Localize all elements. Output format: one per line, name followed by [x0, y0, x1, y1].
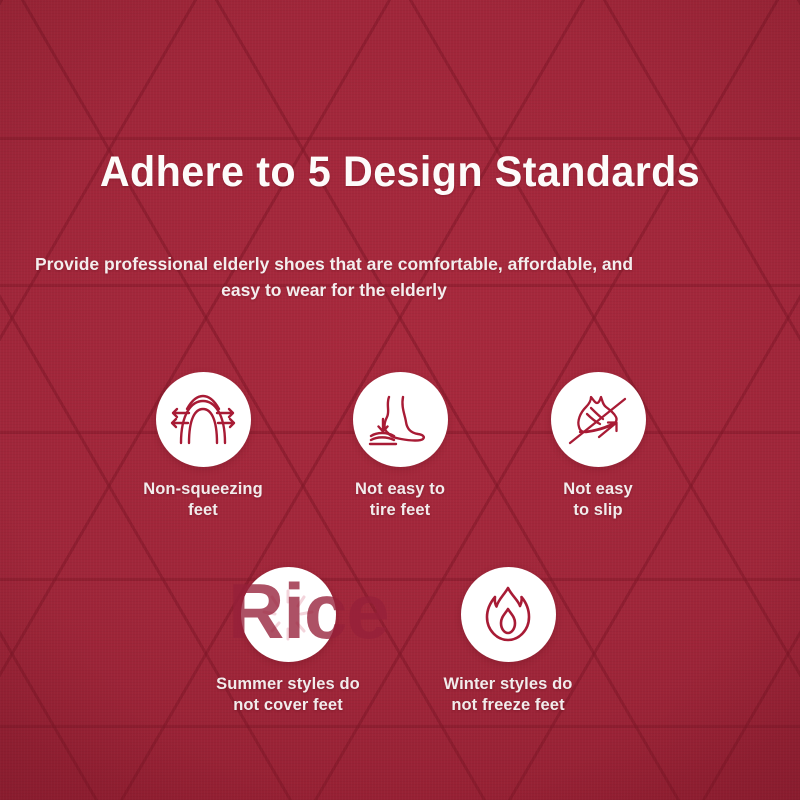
feature-caption: Non-squeezing feet — [108, 479, 298, 520]
sun-breathable-icon — [256, 585, 320, 645]
feature-caption: Not easy to slip — [503, 479, 693, 520]
sneaker-slope-up-arrow-icon — [565, 389, 631, 451]
feature-item-not-easy-to-tire-feet: Not easy to tire feet — [305, 372, 495, 520]
flame-icon — [481, 584, 535, 646]
caption-line-2: to slip — [573, 501, 622, 519]
feature-icon-circle — [551, 372, 646, 467]
feature-icon-circle — [156, 372, 251, 467]
caption-line-2: feet — [188, 501, 218, 519]
feature-item-not-easy-to-slip: Not easy to slip — [503, 372, 693, 520]
feature-item-non-squeezing-feet: Non-squeezing feet — [108, 372, 298, 520]
caption-line-1: Not easy — [563, 480, 633, 498]
caption-line-1: Not easy to — [355, 480, 445, 498]
caption-line-1: Summer styles do — [216, 675, 360, 693]
feature-caption: Summer styles do not cover feet — [193, 674, 383, 715]
page-title: Adhere to 5 Design Standards — [16, 148, 784, 197]
foot-cushion-down-arrow-icon — [365, 389, 435, 451]
feature-item-winter-styles: Winter styles do not freeze feet — [413, 567, 603, 715]
page-subtitle: Provide professional elderly shoes that … — [34, 252, 634, 303]
caption-line-1: Non-squeezing — [143, 480, 263, 498]
infographic-poster: Adhere to 5 Design Standards Provide pro… — [0, 0, 800, 800]
caption-line-2: not freeze feet — [451, 696, 564, 714]
feature-icon-circle — [241, 567, 336, 662]
caption-line-2: tire feet — [370, 501, 431, 519]
feature-icon-circle — [461, 567, 556, 662]
arch-expand-arrows-icon — [168, 389, 238, 451]
feature-icon-circle — [353, 372, 448, 467]
caption-line-2: not cover feet — [233, 696, 343, 714]
feature-item-summer-styles: Summer styles do not cover feet — [193, 567, 383, 715]
feature-caption: Winter styles do not freeze feet — [413, 674, 603, 715]
caption-line-1: Winter styles do — [444, 675, 573, 693]
feature-caption: Not easy to tire feet — [305, 479, 495, 520]
